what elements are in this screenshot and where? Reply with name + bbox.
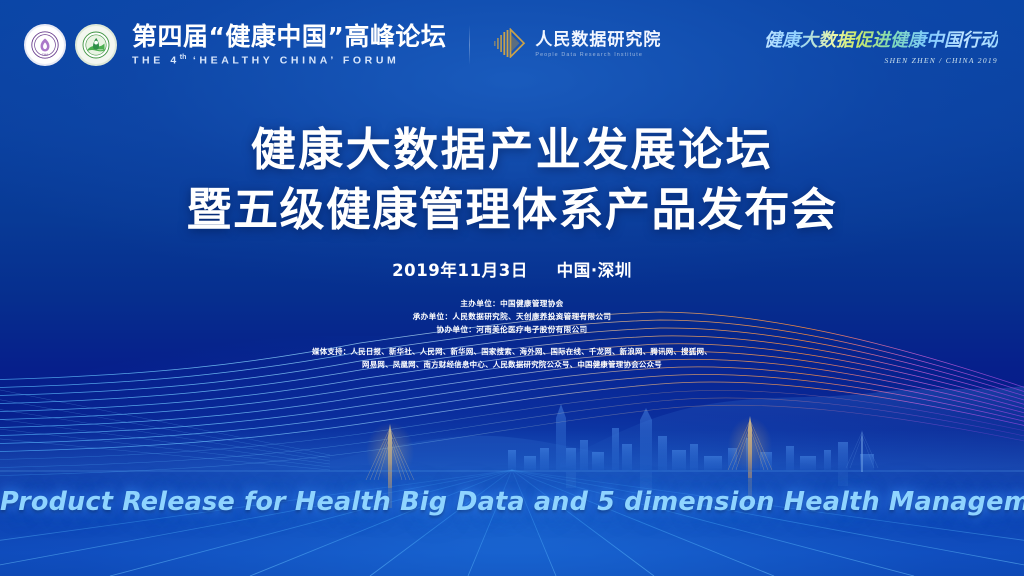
left-fan-lines: [0, 388, 330, 470]
people-data-bars-icon: [493, 28, 527, 63]
campaign-slogan-en: SHEN ZHEN / CHINA 2019: [764, 56, 998, 65]
people-data-research-institute-logo: 人民数据研究院 People Data Research Institute: [493, 28, 661, 63]
event-location: 中国·深圳: [557, 261, 632, 280]
title-line-2: 暨五级健康管理体系产品发布会: [0, 180, 1024, 240]
organizer-list: 主办单位：中国健康管理协会 承办单位：人民数据研究院、天创康养投资管理有限公司 …: [0, 297, 1024, 337]
institute-text: 人民数据研究院 People Data Research Institute: [535, 32, 661, 58]
event-date-location: 2019年11月3日 中国·深圳: [0, 257, 1024, 281]
title-line-1: 健康大数据产业发展论坛: [0, 120, 1024, 180]
media-support-list: 媒体支持：人民日报、新华社、人民网、新华网、国家搜索、海外网、国际在线、千龙网、…: [0, 345, 1024, 372]
institute-name-cn: 人民数据研究院: [535, 32, 661, 49]
forum-title-en: THE 4th ‘HEALTHY CHINA’ FORUM: [132, 54, 446, 66]
forum-title-cn: 第四届“健康中国”高峰论坛: [132, 24, 446, 49]
healthy-china-emblem-icon: [75, 24, 117, 66]
organizer-line: 承办单位：人民数据研究院、天创康养投资管理有限公司: [0, 310, 1024, 323]
event-date: 2019年11月3日: [392, 261, 528, 280]
bottom-glow: [0, 336, 1024, 576]
organizer-line: 协办单位：河南美伦医疗电子股份有限公司: [0, 323, 1024, 336]
english-tagline: Product Release for Health Big Data and …: [0, 487, 1024, 517]
shenzhen-skyline: [508, 404, 874, 470]
bridge-pylons: [366, 416, 878, 488]
bridge-wave-lines-secondary: [0, 390, 1024, 476]
forum-title-en-post: ‘HEALTHY CHINA’ FORUM: [186, 55, 399, 67]
page-title: 健康大数据产业发展论坛 暨五级健康管理体系产品发布会: [0, 120, 1024, 240]
institute-name-en: People Data Research Institute: [535, 53, 661, 58]
conference-banner: CHA 第四届“健康中国”高峰论坛 THE 4th ‘HEALTHY CHINA…: [0, 0, 1024, 576]
banner-header: CHA 第四届“健康中国”高峰论坛 THE 4th ‘HEALTHY CHINA…: [0, 0, 1024, 80]
forum-title-block: 第四届“健康中国”高峰论坛 THE 4th ‘HEALTHY CHINA’ FO…: [132, 24, 446, 66]
campaign-slogan-cn: 健康大数据促进健康中国行动: [764, 26, 998, 52]
cha-emblem-icon: CHA: [24, 24, 66, 66]
media-support-line: 媒体支持：人民日报、新华社、人民网、新华网、国家搜索、海外网、国际在线、千龙网、…: [0, 345, 1024, 358]
main-content: 健康大数据产业发展论坛 暨五级健康管理体系产品发布会 2019年11月3日 中国…: [0, 120, 1024, 371]
forum-title-en-pre: THE 4: [132, 55, 180, 67]
logo-divider: [469, 25, 470, 65]
hills: [300, 386, 1024, 472]
perspective-grid: [0, 470, 1024, 576]
organizer-line: 主办单位：中国健康管理协会: [0, 297, 1024, 310]
campaign-slogan: 健康大数据促进健康中国行动 SHEN ZHEN / CHINA 2019: [764, 26, 998, 65]
svg-text:CHA: CHA: [42, 53, 49, 57]
media-support-line: 网易网、凤凰网、南方财经信息中心、人民数据研究院公众号、中国健康管理协会公众号: [0, 358, 1024, 371]
logo-group: CHA 第四届“健康中国”高峰论坛 THE 4th ‘HEALTHY CHINA…: [24, 24, 661, 66]
